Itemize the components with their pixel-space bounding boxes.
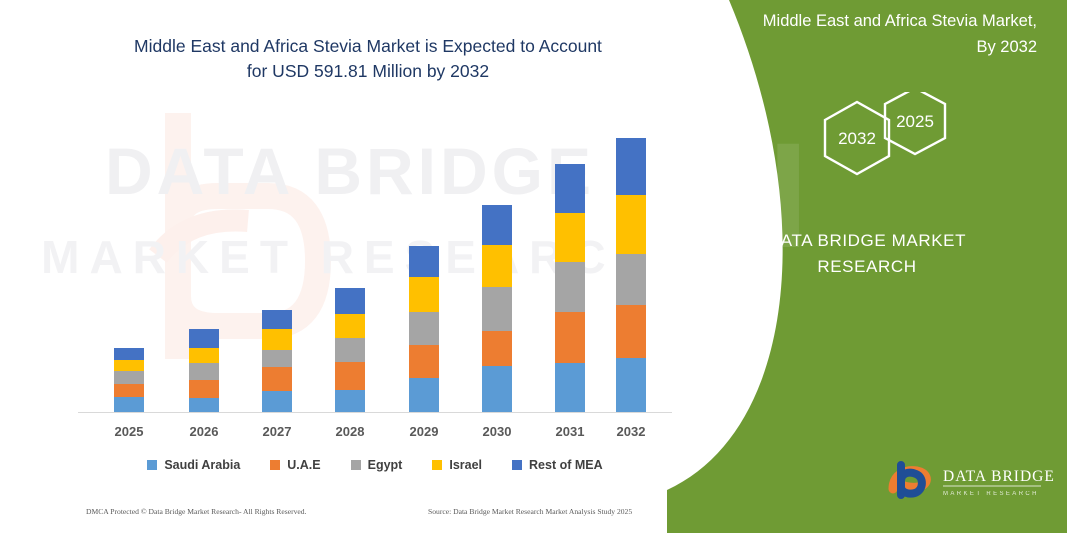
page-title-line-2: for USD 591.81 Million by 2032 <box>48 59 688 84</box>
bar-segment-2032-u-a-e[interactable] <box>616 305 646 358</box>
bar-segment-2032-egypt[interactable] <box>616 254 646 305</box>
bar-segment-2029-saudi-arabia[interactable] <box>409 378 439 412</box>
bar-segment-2031-egypt[interactable] <box>555 262 585 311</box>
legend-swatch-icon <box>432 460 442 470</box>
bar-segment-2031-u-a-e[interactable] <box>555 312 585 363</box>
legend-label: U.A.E <box>287 458 320 472</box>
logo-text-sub: MARKET RESEARCH <box>943 491 1039 497</box>
bar-segment-2029-rest-of-mea[interactable] <box>409 246 439 277</box>
bar-segment-2028-egypt[interactable] <box>335 338 365 361</box>
bar-segment-2031-israel[interactable] <box>555 213 585 262</box>
hexagon-2032-label: 2032 <box>838 129 876 148</box>
brand-line-2: RESEARCH <box>697 254 1037 280</box>
footer-source: Source: Data Bridge Market Research Mark… <box>428 507 632 516</box>
bar-segment-2027-israel[interactable] <box>262 329 292 350</box>
bar-2025[interactable] <box>114 348 144 412</box>
legend-label: Saudi Arabia <box>164 458 240 472</box>
brand-panel: RI Middle East and Africa Stevia Market,… <box>667 0 1067 533</box>
bar-segment-2025-u-a-e[interactable] <box>114 384 144 398</box>
bar-segment-2027-u-a-e[interactable] <box>262 367 292 390</box>
bar-2026[interactable] <box>189 329 219 412</box>
bar-2027[interactable] <box>262 310 292 412</box>
panel-title-line-1: Middle East and Africa Stevia Market, <box>707 8 1037 34</box>
hexagon-group: 2032 2025 <box>785 92 975 207</box>
bar-segment-2030-egypt[interactable] <box>482 287 512 331</box>
bar-segment-2027-egypt[interactable] <box>262 350 292 367</box>
bar-2028[interactable] <box>335 288 365 412</box>
bar-segment-2032-saudi-arabia[interactable] <box>616 358 646 412</box>
bar-segment-2026-saudi-arabia[interactable] <box>189 398 219 412</box>
panel-title: Middle East and Africa Stevia Market, By… <box>707 8 1037 60</box>
bar-segment-2025-rest-of-mea[interactable] <box>114 348 144 360</box>
legend-item-egypt[interactable]: Egypt <box>351 458 403 472</box>
panel-title-line-2: By 2032 <box>707 34 1037 60</box>
bar-segment-2027-rest-of-mea[interactable] <box>262 310 292 329</box>
bar-segment-2028-israel[interactable] <box>335 314 365 338</box>
bar-segment-2026-israel[interactable] <box>189 348 219 363</box>
bar-segment-2027-saudi-arabia[interactable] <box>262 391 292 412</box>
legend-label: Israel <box>449 458 482 472</box>
footer-copyright: DMCA Protected © Data Bridge Market Rese… <box>86 507 306 516</box>
page-title: Middle East and Africa Stevia Market is … <box>48 34 688 84</box>
x-axis-line <box>78 412 672 413</box>
bar-segment-2026-egypt[interactable] <box>189 363 219 380</box>
bar-segment-2029-egypt[interactable] <box>409 312 439 345</box>
bar-2029[interactable] <box>409 246 439 412</box>
legend-item-saudi-arabia[interactable]: Saudi Arabia <box>147 458 240 472</box>
bar-segment-2030-u-a-e[interactable] <box>482 331 512 366</box>
page-title-line-1: Middle East and Africa Stevia Market is … <box>48 34 688 59</box>
bar-2032[interactable] <box>616 138 646 412</box>
x-axis-label-2032: 2032 <box>601 424 661 439</box>
bar-segment-2030-israel[interactable] <box>482 245 512 288</box>
bar-2030[interactable] <box>482 205 512 412</box>
hexagon-2025-label: 2025 <box>896 112 934 131</box>
legend-label: Rest of MEA <box>529 458 603 472</box>
bar-segment-2029-israel[interactable] <box>409 277 439 312</box>
bar-segment-2031-saudi-arabia[interactable] <box>555 363 585 412</box>
x-axis-label-2031: 2031 <box>540 424 600 439</box>
bar-2031[interactable] <box>555 164 585 412</box>
x-axis-label-2026: 2026 <box>174 424 234 439</box>
chart-legend: Saudi ArabiaU.A.EEgyptIsraelRest of MEA <box>78 454 672 476</box>
brand-line-1: DATA BRIDGE MARKET <box>697 228 1037 254</box>
bar-segment-2032-israel[interactable] <box>616 195 646 254</box>
x-axis-label-2025: 2025 <box>99 424 159 439</box>
bar-segment-2026-rest-of-mea[interactable] <box>189 329 219 348</box>
infographic-canvas: DATA BRIDGE MARKET RESEARCH Middle East … <box>0 0 1067 533</box>
x-axis-label-2028: 2028 <box>320 424 380 439</box>
legend-item-israel[interactable]: Israel <box>432 458 482 472</box>
x-axis-label-2030: 2030 <box>467 424 527 439</box>
bar-segment-2026-u-a-e[interactable] <box>189 380 219 398</box>
legend-swatch-icon <box>351 460 361 470</box>
bar-segment-2029-u-a-e[interactable] <box>409 345 439 379</box>
bar-segment-2030-rest-of-mea[interactable] <box>482 205 512 245</box>
bar-segment-2031-rest-of-mea[interactable] <box>555 164 585 212</box>
legend-swatch-icon <box>270 460 280 470</box>
bar-segment-2028-saudi-arabia[interactable] <box>335 390 365 412</box>
legend-swatch-icon <box>147 460 157 470</box>
bar-segment-2025-egypt[interactable] <box>114 371 144 384</box>
logo-text-main: DATA BRIDGE <box>943 468 1054 485</box>
legend-item-rest-of-mea[interactable]: Rest of MEA <box>512 458 603 472</box>
legend-item-u-a-e[interactable]: U.A.E <box>270 458 320 472</box>
bar-segment-2032-rest-of-mea[interactable] <box>616 138 646 195</box>
legend-swatch-icon <box>512 460 522 470</box>
stacked-bar-chart <box>78 120 672 413</box>
legend-label: Egypt <box>368 458 403 472</box>
dbmr-logo: DATA BRIDGE MARKET RESEARCH <box>879 455 1054 503</box>
bar-segment-2030-saudi-arabia[interactable] <box>482 366 512 412</box>
x-axis-label-2027: 2027 <box>247 424 307 439</box>
brand-name: DATA BRIDGE MARKET RESEARCH <box>697 228 1037 280</box>
bar-segment-2028-rest-of-mea[interactable] <box>335 288 365 313</box>
x-axis-labels: 20252026202720282029203020312032 <box>78 424 672 444</box>
x-axis-label-2029: 2029 <box>394 424 454 439</box>
bar-segment-2025-israel[interactable] <box>114 360 144 371</box>
bar-segment-2025-saudi-arabia[interactable] <box>114 397 144 412</box>
bar-segment-2028-u-a-e[interactable] <box>335 362 365 390</box>
